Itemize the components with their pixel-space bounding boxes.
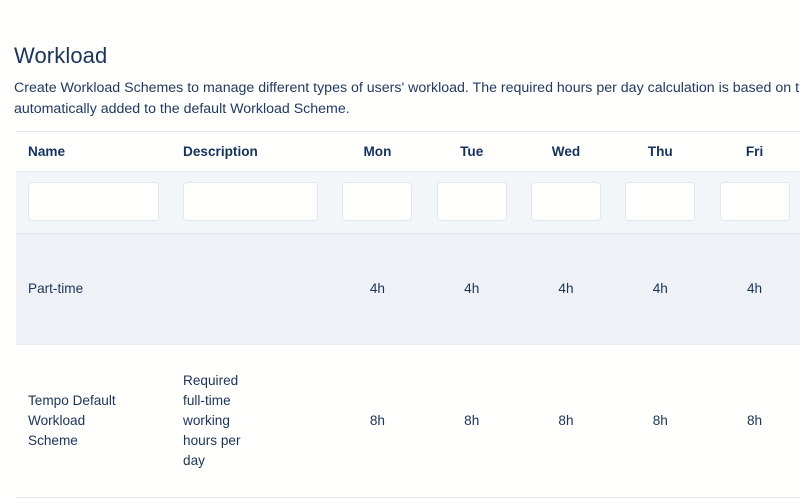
workload-table-container: Name Description Mon Tue Wed Thu Fri Sat	[16, 131, 800, 498]
filter-cell-name	[16, 172, 171, 234]
column-header-wed[interactable]: Wed	[519, 132, 613, 172]
filter-input-thu[interactable]	[625, 182, 695, 221]
cell-wed: 8h	[519, 345, 613, 498]
filter-input-wed[interactable]	[531, 182, 601, 221]
row-name-text: Part-time	[28, 279, 120, 299]
cell-tue: 4h	[425, 234, 519, 345]
table-row[interactable]: Part-time 4h 4h 4h 4h 4h 0h	[16, 234, 800, 345]
column-header-name[interactable]: Name	[16, 132, 171, 172]
cell-fri: 4h	[707, 234, 800, 345]
cell-name: Tempo Default Workload Scheme	[16, 345, 171, 498]
filter-row	[16, 172, 800, 234]
filter-cell-tue	[425, 172, 519, 234]
page-title: Workload	[14, 0, 800, 70]
workload-table: Name Description Mon Tue Wed Thu Fri Sat	[16, 131, 800, 498]
table-body: Part-time 4h 4h 4h 4h 4h 0h Tempo Defaul…	[16, 234, 800, 498]
filter-cell-description	[171, 172, 330, 234]
row-name-text: Tempo Default Workload Scheme	[28, 391, 120, 451]
filter-cell-wed	[519, 172, 613, 234]
filter-input-name[interactable]	[28, 182, 159, 221]
column-header-description[interactable]: Description	[171, 132, 330, 172]
column-header-fri[interactable]: Fri	[707, 132, 800, 172]
filter-input-tue[interactable]	[437, 182, 507, 221]
table-filter-section	[16, 172, 800, 234]
table-row[interactable]: Tempo Default Workload Scheme Required f…	[16, 345, 800, 498]
page-description: Create Workload Schemes to manage differ…	[14, 70, 800, 120]
cell-tue: 8h	[425, 345, 519, 498]
workload-settings-page: Workload Create Workload Schemes to mana…	[0, 0, 800, 500]
filter-cell-mon	[330, 172, 424, 234]
cell-description	[171, 234, 330, 345]
cell-thu: 8h	[613, 345, 707, 498]
filter-cell-thu	[613, 172, 707, 234]
cell-thu: 4h	[613, 234, 707, 345]
filter-cell-fri	[707, 172, 800, 234]
header-row: Name Description Mon Tue Wed Thu Fri Sat	[16, 132, 800, 172]
column-header-tue[interactable]: Tue	[425, 132, 519, 172]
cell-description: Required full-time working hours per day	[171, 345, 330, 498]
cell-mon: 8h	[330, 345, 424, 498]
cell-fri: 8h	[707, 345, 800, 498]
cell-mon: 4h	[330, 234, 424, 345]
row-description-text: Required full-time working hours per day	[183, 371, 257, 471]
cell-wed: 4h	[519, 234, 613, 345]
table-header: Name Description Mon Tue Wed Thu Fri Sat	[16, 132, 800, 172]
filter-input-mon[interactable]	[342, 182, 412, 221]
filter-input-fri[interactable]	[720, 182, 790, 221]
cell-name: Part-time	[16, 234, 171, 345]
column-header-mon[interactable]: Mon	[330, 132, 424, 172]
filter-input-description[interactable]	[183, 182, 318, 221]
column-header-thu[interactable]: Thu	[613, 132, 707, 172]
